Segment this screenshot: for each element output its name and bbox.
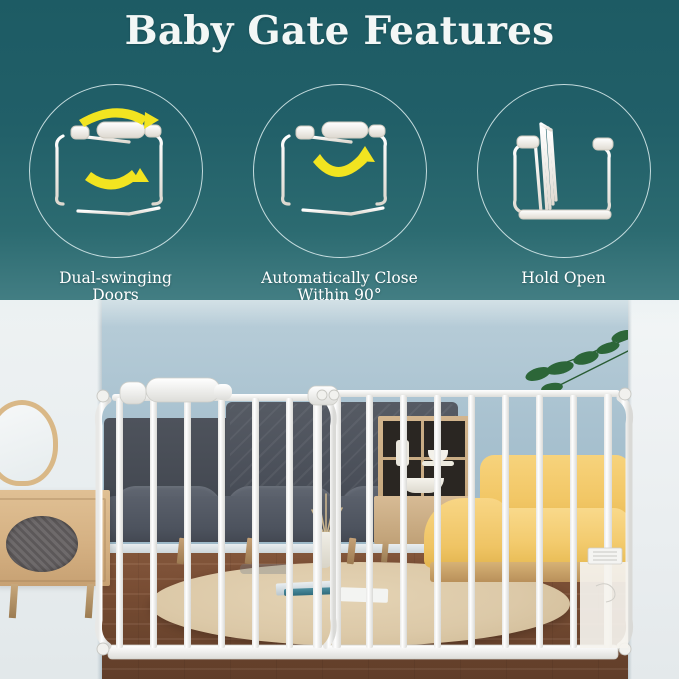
gate-held-open-icon (489, 96, 639, 246)
gate-left-mount-post (98, 400, 108, 646)
feature-circle-3 (477, 84, 651, 258)
feature-circle-1 (29, 84, 203, 258)
gate-single-yellow-arrow-icon (265, 96, 415, 246)
gate-bars-left-panel (116, 396, 322, 648)
feature-label-1-line1: Dual-swinging (59, 270, 172, 287)
feature-circle-2 (253, 84, 427, 258)
gate-two-yellow-arrows-icon (41, 96, 191, 246)
feature-automatically-close: Automatically Close Within 90° (242, 84, 438, 305)
feature-label-2-line1: Automatically Close (261, 270, 418, 287)
gate-centre-hinge-post (326, 400, 334, 646)
gate-mount-screws (97, 388, 631, 655)
feature-dual-swinging-doors: Dual-swinging Doors (18, 84, 214, 305)
page-title: Baby Gate Features (0, 8, 679, 54)
feature-list: Dual-swinging Doors (0, 84, 679, 305)
product-feature-poster: Baby Gate Features (0, 0, 679, 679)
feature-hold-open: Hold Open (466, 84, 662, 305)
installed-baby-gate (0, 300, 679, 679)
gate-bars-right-panel (332, 394, 612, 648)
feature-label-3: Hold Open (521, 270, 605, 287)
gate-latch-handle (120, 378, 232, 404)
wall-corner-panel (580, 562, 628, 648)
feature-label-3-line1: Hold Open (521, 270, 605, 287)
